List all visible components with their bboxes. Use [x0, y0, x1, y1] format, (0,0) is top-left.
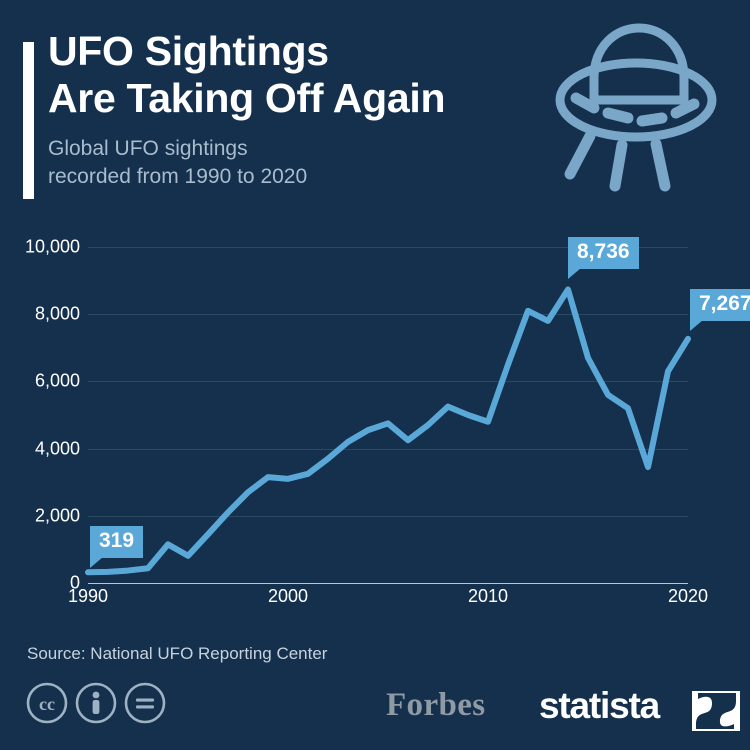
- series-line: [88, 289, 688, 572]
- statista-logo: statista: [539, 685, 659, 727]
- source-text: Source: National UFO Reporting Center: [27, 644, 327, 664]
- license-icon-group: cc: [26, 682, 186, 729]
- page-subtitle-line-1: Global UFO sightings: [48, 135, 518, 163]
- no-derivatives-icon: [126, 684, 164, 722]
- peak-callout: 8,736: [568, 237, 639, 269]
- page-title-line-2: Are Taking Off Again: [48, 75, 518, 122]
- first-point-callout: 319: [90, 526, 143, 558]
- forbes-logo: Forbes: [386, 687, 486, 724]
- page-title-line-1: UFO Sightings: [48, 28, 518, 75]
- svg-text:cc: cc: [39, 694, 55, 714]
- x-tick-label: 1990: [68, 586, 108, 607]
- page-subtitle-line-2: recorded from 1990 to 2020: [48, 163, 518, 191]
- x-tick-label: 2020: [668, 586, 708, 607]
- statista-swoosh-icon: [692, 691, 740, 736]
- ufo-sightings-infographic: UFO Sightings Are Taking Off Again Globa…: [0, 0, 750, 750]
- header: UFO Sightings Are Taking Off Again Globa…: [0, 0, 750, 218]
- title-accent-bar: [23, 42, 34, 199]
- subtitle-block: Global UFO sightings recorded from 1990 …: [48, 135, 518, 191]
- ufo-saucer-icon: [532, 14, 737, 209]
- last-point-callout: 7,267: [690, 289, 750, 321]
- x-tick-label: 2010: [468, 586, 508, 607]
- title-block: UFO Sightings Are Taking Off Again Globa…: [48, 28, 518, 191]
- chart-plot-area: [0, 228, 750, 628]
- x-tick-label: 2000: [268, 586, 308, 607]
- line-chart: 02,0004,0006,0008,00010,000 199020002010…: [0, 228, 750, 628]
